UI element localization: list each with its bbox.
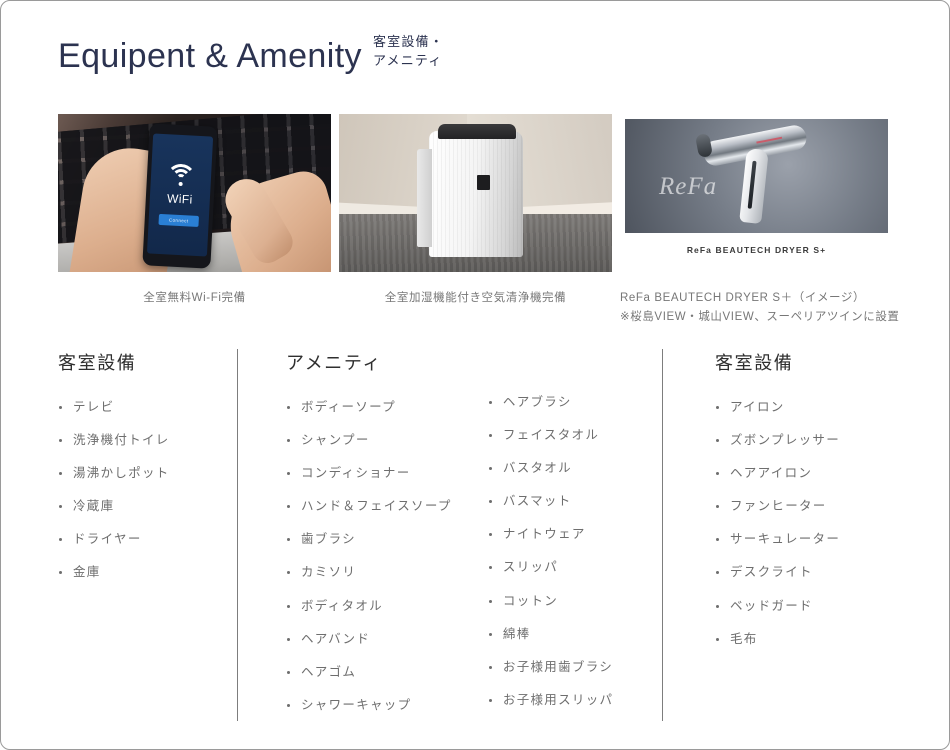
column-equipment-1: 客室設備 テレビ 洗浄機付トイレ 湯沸かしポット 冷蔵庫 ドライヤー 金庫 bbox=[58, 349, 237, 721]
page-subtitle-line2: アメニティ bbox=[373, 52, 444, 71]
amenity-sub-column-2: ヘアブラシ フェイスタオル バスタオル バスマット ナイトウェア スリッパ コッ… bbox=[488, 349, 662, 721]
page-header: Equipent & Amenity 客室設備・ アメニティ bbox=[58, 33, 444, 75]
list-item: コンディショナー bbox=[286, 467, 488, 480]
refa-brand-logo: ReFa bbox=[659, 173, 717, 201]
list-item: 毛布 bbox=[715, 633, 894, 646]
list-item: 歯ブラシ bbox=[286, 533, 488, 546]
list-item: バスマット bbox=[488, 495, 662, 508]
list-item: 冷蔵庫 bbox=[58, 500, 237, 513]
list-item: お子様用歯ブラシ bbox=[488, 661, 662, 674]
list-item: ベッドガード bbox=[715, 600, 894, 613]
list-item: テレビ bbox=[58, 401, 237, 414]
hair-dryer-nozzle bbox=[695, 133, 713, 158]
list-item: アイロン bbox=[715, 401, 894, 414]
list-item: ヘアアイロン bbox=[715, 467, 894, 480]
refa-product-caption: ReFa BEAUTECH DRYER S+ bbox=[625, 233, 888, 266]
list-item: ハンド＆フェイスソープ bbox=[286, 500, 488, 513]
list-item: ヘアゴム bbox=[286, 666, 488, 679]
equipment-amenity-lists: 客室設備 テレビ 洗浄機付トイレ 湯沸かしポット 冷蔵庫 ドライヤー 金庫 アメ… bbox=[58, 349, 894, 721]
caption-air-purifier: 全室加湿機能付き空気清浄機完備 bbox=[339, 289, 612, 327]
list-item: ボディタオル bbox=[286, 600, 488, 613]
air-purifier-top-vent bbox=[438, 124, 516, 139]
photo-row: WiFi Connect bbox=[58, 114, 894, 272]
phone-screen: WiFi Connect bbox=[147, 134, 213, 257]
heading-equipment-1: 客室設備 bbox=[58, 349, 237, 375]
list-equipment-2: アイロン ズボンプレッサー ヘアアイロン ファンヒーター サーキュレーター デス… bbox=[715, 401, 894, 645]
list-item: ナイトウェア bbox=[488, 528, 662, 541]
wifi-phone-photo: WiFi Connect bbox=[58, 114, 331, 272]
list-amenity-1: ボディーソープ シャンプー コンディショナー ハンド＆フェイスソープ 歯ブラシ … bbox=[286, 401, 488, 711]
equipment-amenity-page: Equipent & Amenity 客室設備・ アメニティ WiFi bbox=[0, 0, 950, 750]
wifi-icon bbox=[164, 163, 199, 187]
caption-air-purifier-line1: 全室加湿機能付き空気清浄機完備 bbox=[339, 289, 612, 308]
list-item: ヘアブラシ bbox=[488, 396, 662, 409]
list-item: シャンプー bbox=[286, 434, 488, 447]
list-item: ボディーソープ bbox=[286, 401, 488, 414]
list-item: ドライヤー bbox=[58, 533, 237, 546]
page-title: Equipent & Amenity bbox=[58, 39, 362, 75]
air-purifier-unit bbox=[429, 131, 523, 257]
list-item: 金庫 bbox=[58, 566, 237, 579]
list-item: 洗浄機付トイレ bbox=[58, 434, 237, 447]
heading-equipment-2: 客室設備 bbox=[715, 349, 894, 375]
photo-caption-row: 全室無料Wi-Fi完備 全室加湿機能付き空気清浄機完備 ReFa BEAUTEC… bbox=[58, 289, 894, 327]
caption-wifi: 全室無料Wi-Fi完備 bbox=[58, 289, 331, 327]
amenity-sub-column-1: アメニティ ボディーソープ シャンプー コンディショナー ハンド＆フェイスソープ… bbox=[286, 349, 488, 721]
page-subtitle-line1: 客室設備・ bbox=[373, 33, 444, 52]
photo-cell-refa-dryer: ReFa ReFa BEAUTECH DRYER S+ bbox=[620, 114, 893, 272]
list-item: デスクライト bbox=[715, 566, 894, 579]
smartphone: WiFi Connect bbox=[142, 123, 217, 268]
caption-refa-dryer-line2: ※桜島VIEW・城山VIEW、スーペリアツインに設置 bbox=[620, 308, 893, 327]
list-item: フェイスタオル bbox=[488, 429, 662, 442]
list-item: コットン bbox=[488, 595, 662, 608]
list-equipment-1: テレビ 洗浄機付トイレ 湯沸かしポット 冷蔵庫 ドライヤー 金庫 bbox=[58, 401, 237, 579]
heading-amenity: アメニティ bbox=[286, 349, 488, 375]
caption-refa-dryer-line1: ReFa BEAUTECH DRYER S＋（イメージ） bbox=[620, 289, 893, 308]
refa-photo-frame: ReFa ReFa BEAUTECH DRYER S+ bbox=[620, 114, 893, 272]
photo-cell-wifi: WiFi Connect bbox=[58, 114, 331, 272]
column-equipment-2: 客室設備 アイロン ズボンプレッサー ヘアアイロン ファンヒーター サーキュレー… bbox=[663, 349, 894, 721]
list-item: バスタオル bbox=[488, 462, 662, 475]
photo-cell-air-purifier bbox=[339, 114, 612, 272]
column-amenity: アメニティ ボディーソープ シャンプー コンディショナー ハンド＆フェイスソープ… bbox=[238, 349, 662, 721]
list-item: シャワーキャップ bbox=[286, 699, 488, 712]
list-amenity-2: ヘアブラシ フェイスタオル バスタオル バスマット ナイトウェア スリッパ コッ… bbox=[488, 396, 662, 706]
refa-product-stage: ReFa bbox=[625, 119, 888, 233]
list-item: ズボンプレッサー bbox=[715, 434, 894, 447]
refa-dryer-photo: ReFa ReFa BEAUTECH DRYER S+ bbox=[620, 114, 893, 272]
air-purifier-photo bbox=[339, 114, 612, 272]
connect-button[interactable]: Connect bbox=[159, 214, 199, 227]
list-item: お子様用スリッパ bbox=[488, 694, 662, 707]
list-item: スリッパ bbox=[488, 561, 662, 574]
list-item: カミソリ bbox=[286, 566, 488, 579]
list-item: サーキュレーター bbox=[715, 533, 894, 546]
list-item: ファンヒーター bbox=[715, 500, 894, 513]
caption-wifi-line1: 全室無料Wi-Fi完備 bbox=[58, 289, 331, 308]
list-item: 湯沸かしポット bbox=[58, 467, 237, 480]
list-item: ヘアバンド bbox=[286, 633, 488, 646]
list-item: 綿棒 bbox=[488, 628, 662, 641]
page-subtitle-japanese: 客室設備・ アメニティ bbox=[373, 33, 444, 75]
air-purifier-water-tank bbox=[417, 149, 432, 247]
caption-refa-dryer: ReFa BEAUTECH DRYER S＋（イメージ） ※桜島VIEW・城山V… bbox=[620, 289, 893, 327]
air-purifier-brand-badge bbox=[477, 175, 490, 190]
